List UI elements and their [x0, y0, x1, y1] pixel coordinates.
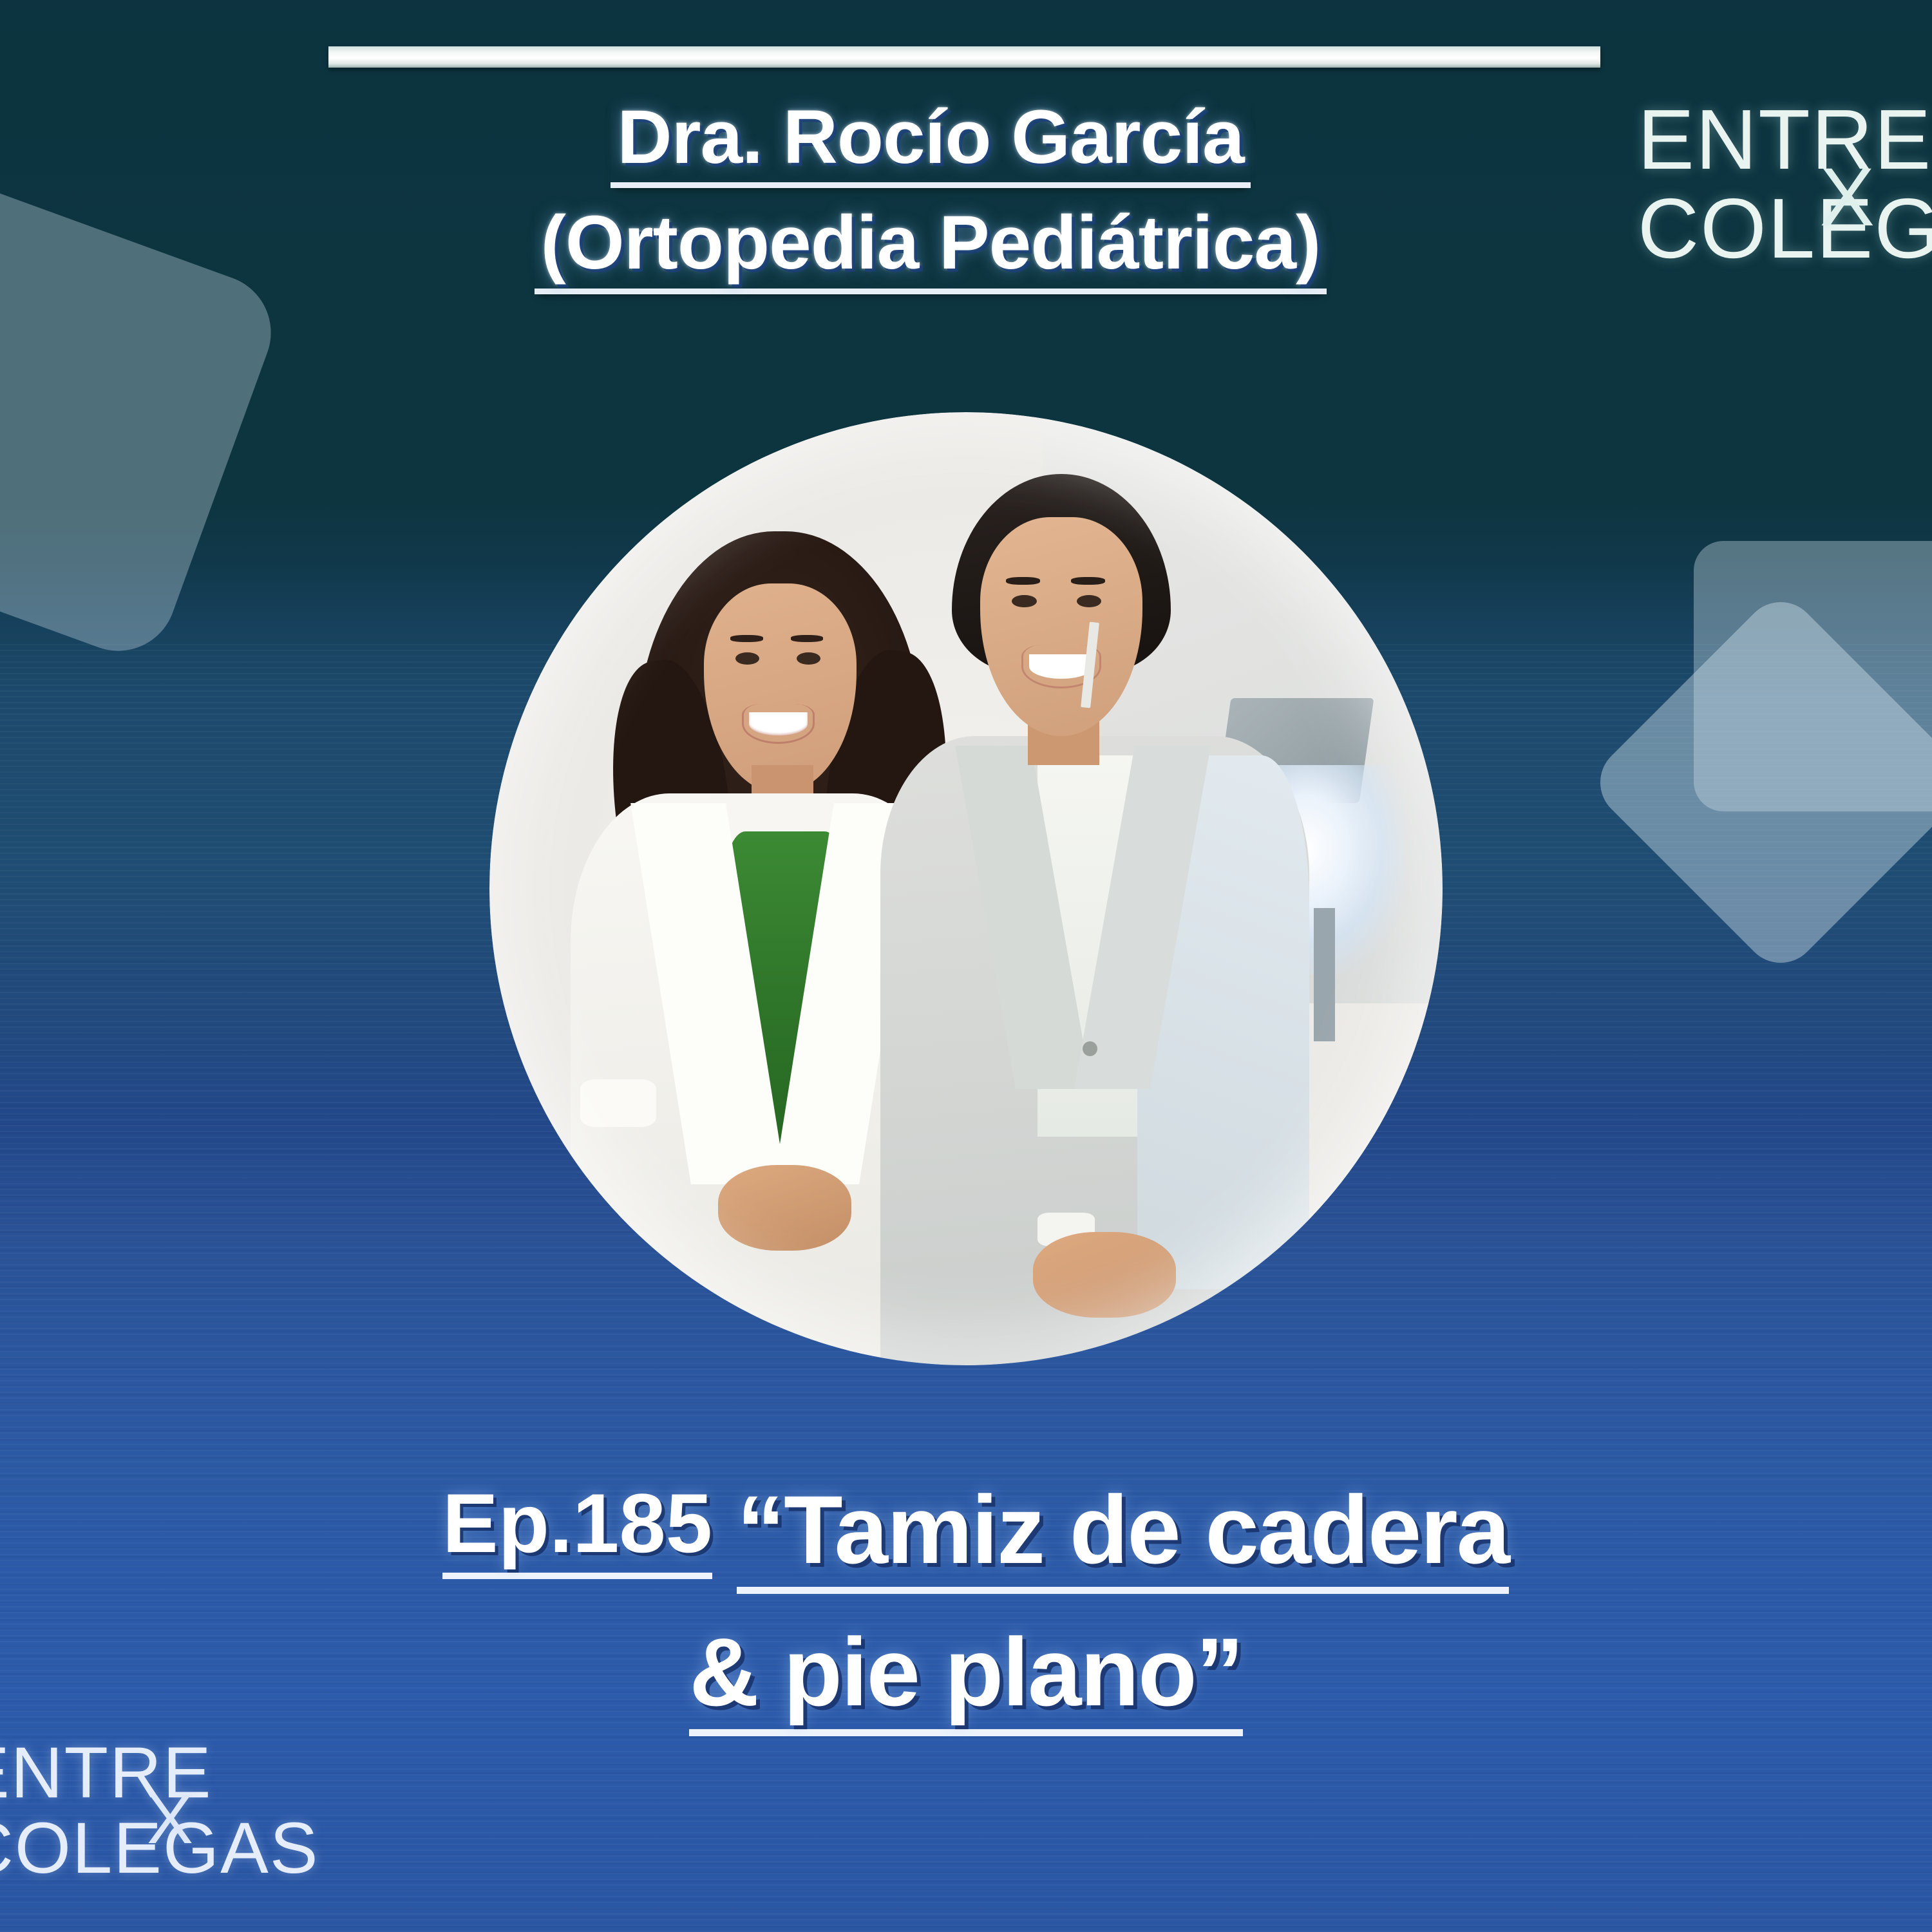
top-divider-bar [328, 46, 1600, 68]
episode-number: Ep.185 [442, 1481, 712, 1579]
episode-title-line-1: “Tamiz de cadera [737, 1481, 1509, 1594]
guest-photo-circle [489, 412, 1443, 1365]
guest-photo [489, 412, 1443, 1365]
guest-specialty: (Ortopedia Pediátrica) [535, 202, 1327, 294]
episode-title-row: Ep.185 “Tamiz de cadera [0, 1481, 1932, 1594]
episode-title-line-2: & pie plano” [689, 1624, 1242, 1736]
footer-block: Ep.185 “Tamiz de cadera & pie plano” [0, 1481, 1932, 1736]
brand-x-icon-bottom: X [147, 1786, 194, 1852]
guest-name: Dra. Rocío García [611, 97, 1250, 188]
guest-name-line: Dra. Rocío García [0, 97, 1932, 188]
brand-logo-bottom-left: ENTRE COLEGAS X [0, 1739, 319, 1882]
podcast-episode-cover: Dra. Rocío García (Ortopedia Pediátrica)… [0, 0, 1932, 1932]
header-block: Dra. Rocío García (Ortopedia Pediátrica) [0, 97, 1932, 294]
photo-soft-vignette [489, 412, 1443, 1365]
guest-specialty-line: (Ortopedia Pediátrica) [0, 202, 1932, 294]
